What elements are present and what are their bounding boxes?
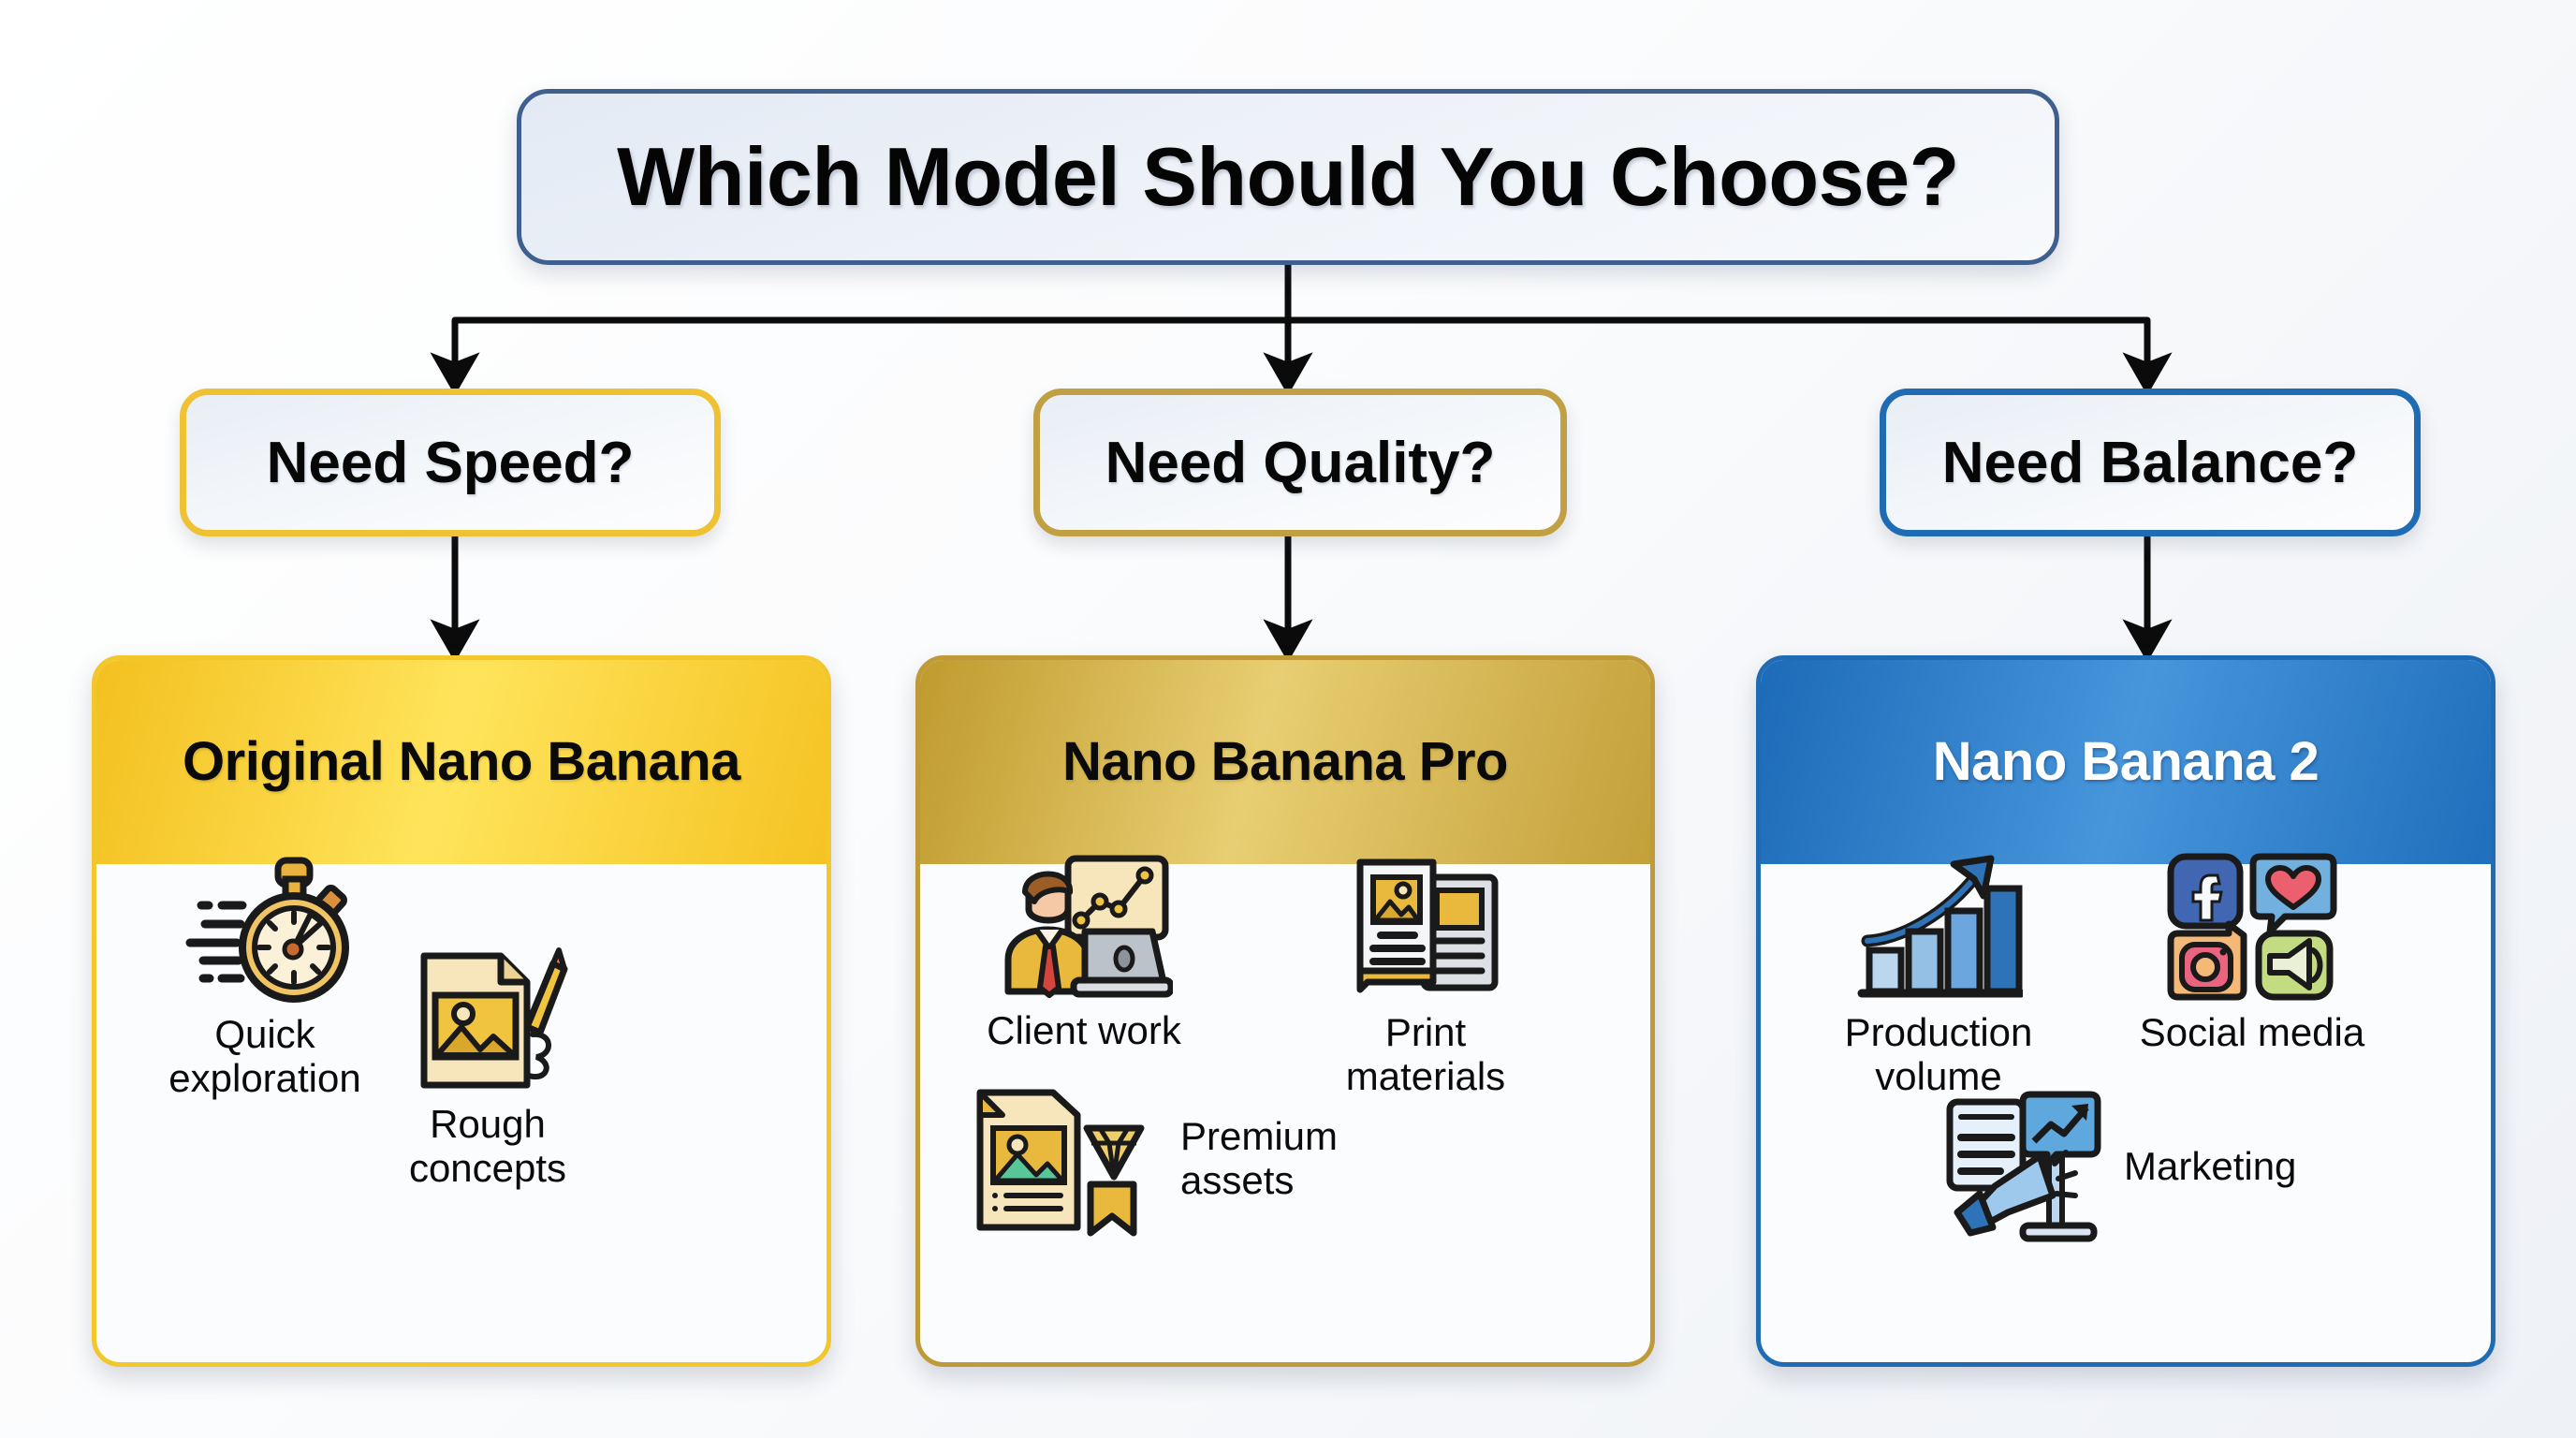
decision-node-label: Need Speed? [267, 430, 635, 496]
bar-chart-growth-icon [1854, 851, 2023, 1003]
flowchart-canvas: Which Model Should You Choose? Need Spee… [0, 0, 2576, 1438]
model-card-body: Production volume [1761, 864, 2491, 1367]
feature-rough-concepts: Rough concepts [347, 945, 628, 1190]
model-card-header: Original Nano Banana [96, 660, 827, 864]
feature-label: Social media [2140, 1010, 2364, 1054]
model-card-header: Nano Banana Pro [920, 660, 1650, 864]
decision-node-label: Need Quality? [1105, 430, 1496, 496]
model-card-body: Client work [920, 864, 1650, 1367]
feature-print-materials: Print materials [1285, 851, 1566, 1098]
model-card-nano-banana-pro[interactable]: Nano Banana Pro [915, 655, 1655, 1367]
feature-marketing: Marketing [1939, 1089, 2296, 1244]
feature-client-work: Client work [929, 851, 1238, 1052]
model-card-title: Nano Banana Pro [1062, 733, 1508, 792]
page-title-text: Which Model Should You Choose? [617, 129, 1959, 225]
person-laptop-chart-icon [995, 851, 1173, 1001]
model-card-body: Quick exploration [96, 864, 827, 1367]
feature-label: Production volume [1845, 1010, 2033, 1098]
model-card-original-nano-banana[interactable]: Original Nano Banana [92, 655, 831, 1367]
feature-label: Print materials [1346, 1010, 1505, 1098]
decision-node-label: Need Balance? [1942, 430, 2359, 496]
feature-premium-assets: Premium assets [967, 1079, 1338, 1237]
decision-node-need-quality[interactable]: Need Quality? [1033, 389, 1567, 536]
model-card-title: Original Nano Banana [183, 733, 740, 792]
document-diamond-icon [967, 1079, 1164, 1237]
feature-label: Marketing [2124, 1144, 2296, 1188]
feature-label: Premium assets [1180, 1114, 1338, 1202]
feature-social-media: Social media [2098, 851, 2407, 1054]
model-card-header: Nano Banana 2 [1761, 660, 2491, 864]
decision-node-need-balance[interactable]: Need Balance? [1880, 389, 2421, 536]
social-media-grid-icon [2165, 851, 2339, 1003]
feature-label: Client work [987, 1008, 1181, 1052]
feature-label: Quick exploration [168, 1012, 360, 1100]
model-card-title: Nano Banana 2 [1933, 733, 2320, 792]
model-card-nano-banana-2[interactable]: Nano Banana 2 [1756, 655, 2495, 1367]
feature-label: Rough concepts [409, 1102, 566, 1190]
feature-production-volume: Production volume [1789, 851, 2088, 1098]
brochure-icon [1345, 851, 1506, 1003]
decision-node-need-speed[interactable]: Need Speed? [180, 389, 721, 536]
megaphone-chart-icon [1939, 1089, 2107, 1244]
image-pencil-icon [407, 945, 568, 1094]
stopwatch-icon [181, 855, 349, 1005]
page-title: Which Model Should You Choose? [517, 89, 2059, 265]
